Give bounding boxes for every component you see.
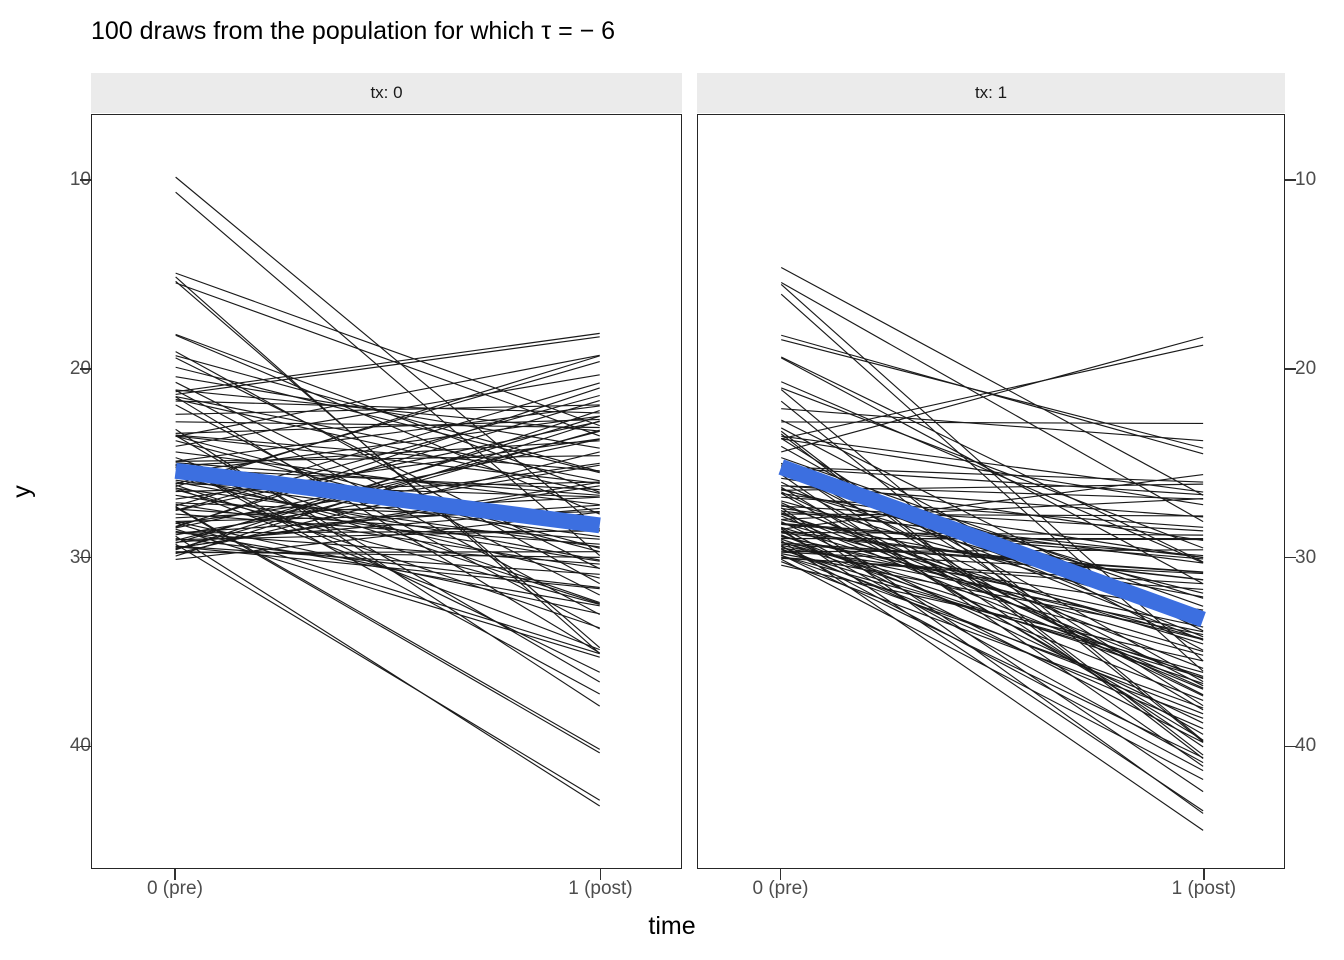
- draw-line: [781, 514, 1203, 516]
- x-tick-label: 0 (pre): [753, 878, 809, 900]
- facet-strip-tx-0: tx: 0: [91, 73, 682, 113]
- y-tick-mark-left: [80, 179, 91, 180]
- y-tick-mark-right: [1285, 179, 1296, 180]
- draw-line: [176, 523, 600, 654]
- draw-line: [176, 552, 600, 553]
- draw-line: [176, 507, 600, 752]
- draw-line: [176, 536, 600, 806]
- draw-line: [781, 340, 1203, 448]
- draw-line: [781, 422, 1203, 424]
- x-tick-label: 1 (post): [1172, 878, 1236, 900]
- draw-line: [781, 388, 1203, 548]
- facet-strip-label: tx: 0: [370, 83, 402, 103]
- draw-line: [176, 546, 600, 574]
- y-tick-label-right: 30: [1295, 547, 1316, 569]
- y-tick-mark-right: [1285, 557, 1296, 558]
- y-tick-mark-right: [1285, 368, 1296, 369]
- plot-panel-tx-1: [697, 114, 1285, 869]
- y-tick-label-right: 20: [1295, 358, 1316, 380]
- axis-title-x: time: [0, 912, 1344, 941]
- panel-canvas: [698, 115, 1284, 868]
- panel-canvas: [92, 115, 681, 868]
- plot-root: 100 draws from the population for which …: [0, 0, 1344, 960]
- page-title: 100 draws from the population for which …: [91, 16, 615, 46]
- axis-title-y: y: [0, 114, 44, 869]
- facet-strip-tx-1: tx: 1: [697, 73, 1285, 113]
- y-tick-mark-left: [80, 746, 91, 747]
- y-tick-label-right: 40: [1295, 735, 1316, 757]
- y-tick-mark-right: [1285, 746, 1296, 747]
- y-tick-mark-left: [80, 557, 91, 558]
- plot-panel-tx-0: [91, 114, 682, 869]
- draw-line: [176, 456, 600, 462]
- facet-strip-label: tx: 1: [975, 83, 1007, 103]
- x-tick-label: 0 (pre): [147, 878, 203, 900]
- y-tick-mark-left: [80, 368, 91, 369]
- x-tick-label: 1 (post): [568, 878, 632, 900]
- y-tick-label-right: 10: [1295, 169, 1316, 191]
- draw-line: [781, 337, 1203, 452]
